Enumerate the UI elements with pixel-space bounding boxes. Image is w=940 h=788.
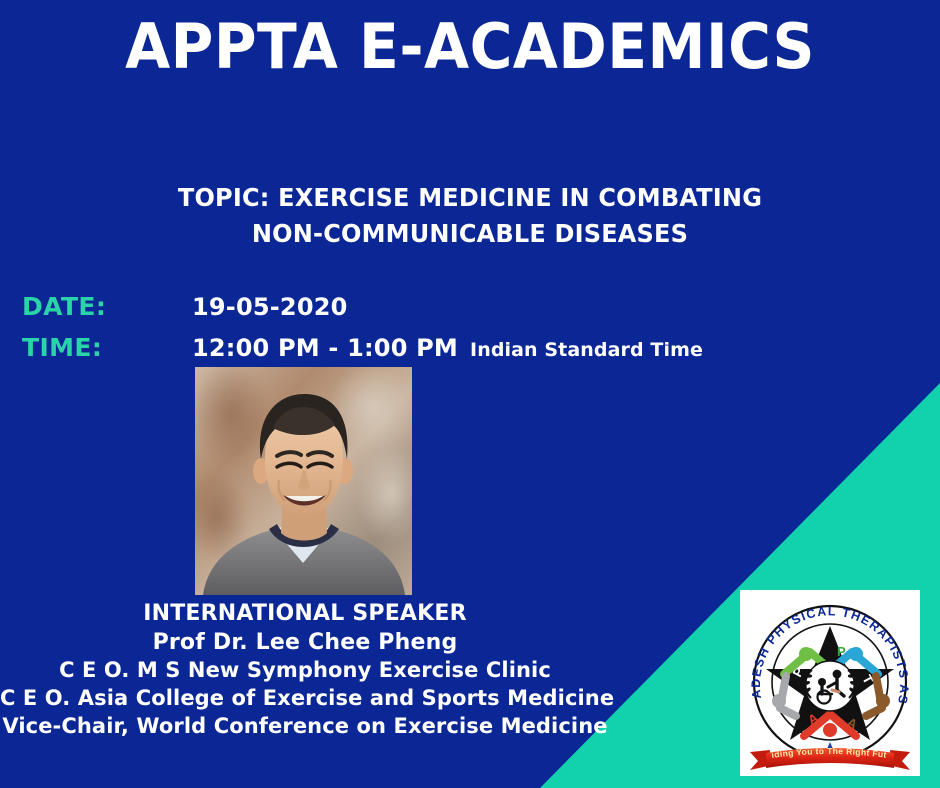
speaker-affiliation-1: C E O. M S New Symphony Exercise Clinic	[0, 657, 610, 685]
time-value: 12:00 PM - 1:00 PM	[192, 334, 458, 362]
page-title: APPTA E-ACADEMICS	[28, 12, 912, 81]
time-row: TIME: 12:00 PM - 1:00 PM Indian Standard…	[22, 333, 703, 362]
speaker-details: INTERNATIONAL SPEAKER Prof Dr. Lee Chee …	[0, 600, 610, 740]
date-row: DATE: 19-05-2020	[22, 292, 348, 321]
association-logo: ANDHRA PRADESH PHYSICAL THERAPISTS ASSOC…	[740, 590, 920, 776]
speaker-portrait-image	[195, 367, 412, 595]
date-label: DATE:	[22, 292, 192, 321]
speaker-photo	[195, 367, 412, 595]
speaker-affiliation-3: Vice-Chair, World Conference on Exercise…	[0, 713, 610, 741]
topic-block: TOPIC: EXERCISE MEDICINE IN COMBATING NO…	[105, 180, 835, 251]
date-value: 19-05-2020	[192, 293, 348, 321]
speaker-affiliation-2: C E O. Asia College of Exercise and Spor…	[0, 685, 610, 713]
poster-canvas: APPTA E-ACADEMICS TOPIC: EXERCISE MEDICI…	[0, 0, 940, 788]
time-label: TIME:	[22, 333, 192, 362]
topic-line-2: NON-COMMUNICABLE DISEASES	[105, 216, 835, 252]
speaker-role: INTERNATIONAL SPEAKER	[0, 600, 610, 629]
appta-seal-icon: ANDHRA PRADESH PHYSICAL THERAPISTS ASSOC…	[740, 590, 920, 776]
time-zone-label: Indian Standard Time	[470, 339, 703, 361]
topic-line-1: TOPIC: EXERCISE MEDICINE IN COMBATING	[105, 180, 835, 216]
speaker-name: Prof Dr. Lee Chee Pheng	[0, 629, 610, 658]
